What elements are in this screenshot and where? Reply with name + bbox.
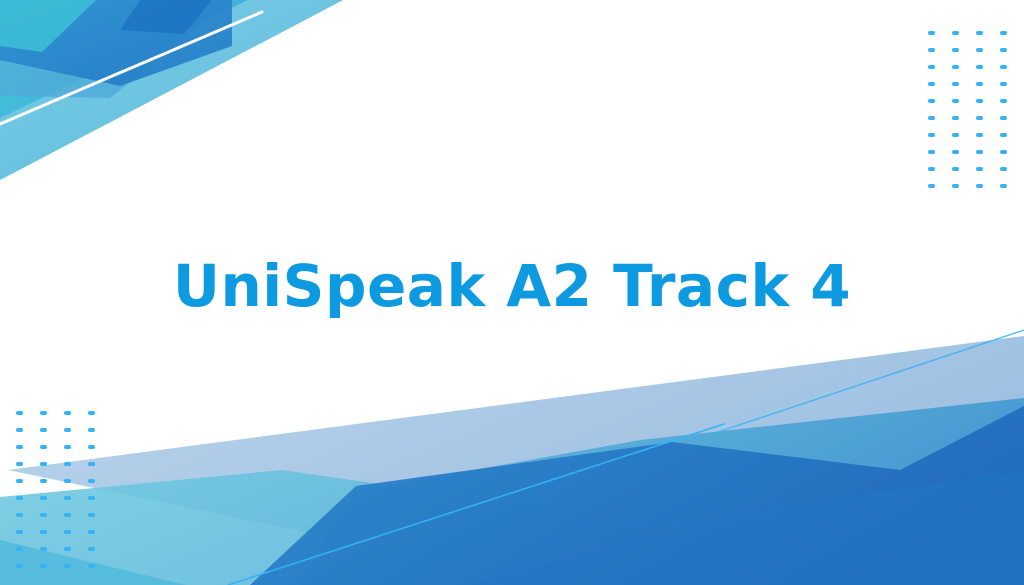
- dot: [16, 523, 40, 540]
- dot: [976, 58, 1000, 75]
- dot: [64, 438, 88, 455]
- dot: [40, 540, 64, 557]
- dot: [16, 557, 40, 574]
- dot: [976, 75, 1000, 92]
- dot-grid-top-right: [928, 24, 1024, 194]
- dot: [1000, 58, 1024, 75]
- dot: [88, 438, 112, 455]
- dot: [976, 126, 1000, 143]
- dot: [64, 489, 88, 506]
- dot: [64, 421, 88, 438]
- title-slide: UniSpeak A2 Track 4: [0, 0, 1024, 585]
- dot: [40, 557, 64, 574]
- dot: [1000, 177, 1024, 194]
- dot: [976, 41, 1000, 58]
- dot: [64, 404, 88, 421]
- dot: [928, 177, 952, 194]
- dot: [88, 540, 112, 557]
- dot: [952, 143, 976, 160]
- dot: [952, 126, 976, 143]
- dot: [976, 24, 1000, 41]
- dot: [88, 557, 112, 574]
- dot: [40, 455, 64, 472]
- dot: [976, 143, 1000, 160]
- dot: [928, 58, 952, 75]
- dot: [88, 472, 112, 489]
- decorative-background: [0, 0, 1024, 585]
- dot: [40, 421, 64, 438]
- dot: [64, 506, 88, 523]
- dot: [64, 557, 88, 574]
- dot: [40, 404, 64, 421]
- dot: [952, 177, 976, 194]
- dot: [976, 160, 1000, 177]
- dot: [88, 421, 112, 438]
- dot: [64, 523, 88, 540]
- dot: [928, 126, 952, 143]
- dot: [64, 540, 88, 557]
- top-left-decoration: [0, 0, 343, 180]
- dot: [16, 421, 40, 438]
- dot: [40, 523, 64, 540]
- dot: [976, 177, 1000, 194]
- dot: [16, 489, 40, 506]
- dot: [1000, 92, 1024, 109]
- dot: [88, 404, 112, 421]
- dot: [40, 489, 64, 506]
- dot: [88, 455, 112, 472]
- dot: [952, 160, 976, 177]
- dot: [928, 160, 952, 177]
- dot: [16, 455, 40, 472]
- dot: [88, 523, 112, 540]
- dot: [1000, 41, 1024, 58]
- dot: [1000, 143, 1024, 160]
- dot: [976, 109, 1000, 126]
- dot: [928, 41, 952, 58]
- dot: [928, 24, 952, 41]
- dot: [1000, 160, 1024, 177]
- dot: [16, 438, 40, 455]
- dot: [1000, 126, 1024, 143]
- dot: [928, 143, 952, 160]
- dot: [40, 506, 64, 523]
- dot: [952, 75, 976, 92]
- dot-grid-bottom-left: [16, 404, 112, 574]
- dot: [40, 472, 64, 489]
- dot: [1000, 109, 1024, 126]
- dot: [16, 540, 40, 557]
- bottom-right-decoration: [0, 330, 1024, 585]
- dot: [952, 109, 976, 126]
- dot: [952, 58, 976, 75]
- dot: [928, 109, 952, 126]
- dot: [16, 472, 40, 489]
- dot: [952, 24, 976, 41]
- dot: [88, 506, 112, 523]
- dot: [64, 455, 88, 472]
- dot: [1000, 75, 1024, 92]
- dot: [16, 404, 40, 421]
- dot: [40, 438, 64, 455]
- dot: [976, 92, 1000, 109]
- dot: [952, 41, 976, 58]
- dot: [88, 489, 112, 506]
- dot: [1000, 24, 1024, 41]
- dot: [16, 506, 40, 523]
- dot: [928, 75, 952, 92]
- dot: [64, 472, 88, 489]
- dot: [928, 92, 952, 109]
- dot: [952, 92, 976, 109]
